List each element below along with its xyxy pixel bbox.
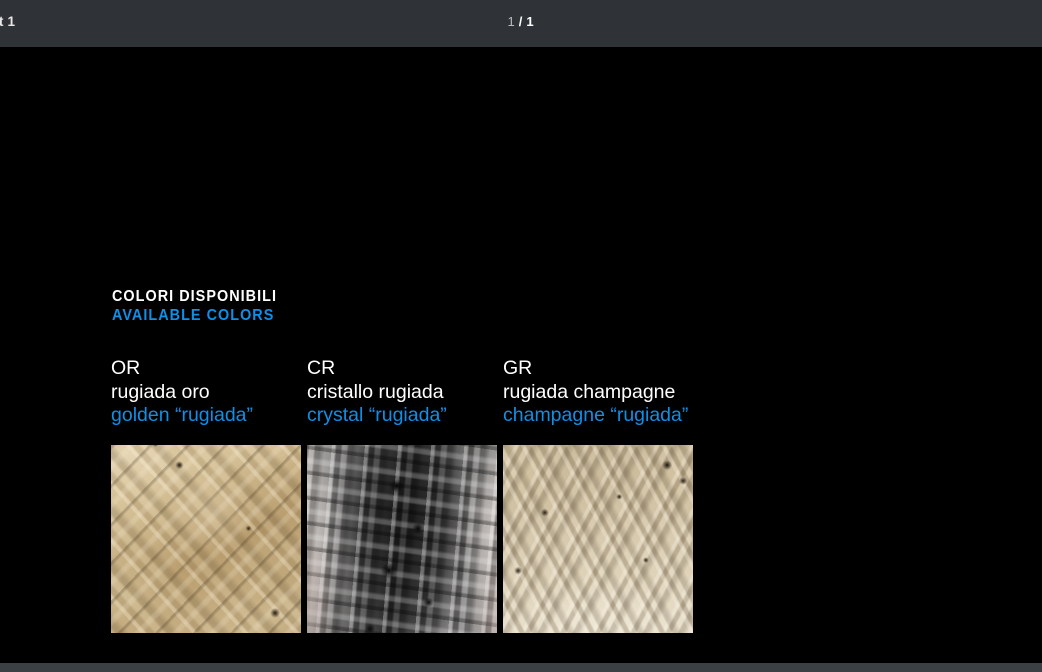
color-name-italian: rugiada champagne <box>503 381 694 405</box>
color-option-gr: GR rugiada champagne champagne “rugiada” <box>503 357 694 428</box>
page-indicator: 1/1 <box>0 14 1042 29</box>
color-name-english: champagne “rugiada” <box>503 404 694 428</box>
swatch-speckle-layer <box>111 445 301 633</box>
viewer-bottom-bar <box>0 663 1042 672</box>
color-name-italian: cristallo rugiada <box>307 381 498 405</box>
swatch-speckle-layer <box>503 445 693 633</box>
heading-english: AVAILABLE COLORS <box>112 306 277 325</box>
color-name-italian: rugiada oro <box>111 381 302 405</box>
pdf-page-canvas[interactable]: COLORI DISPONIBILI AVAILABLE COLORS OR r… <box>0 47 1042 663</box>
page-count-total: 1 <box>526 14 534 29</box>
color-name-english: crystal “rugiada” <box>307 404 498 428</box>
color-option-cr: CR cristallo rugiada crystal “rugiada” <box>307 357 498 428</box>
color-code: OR <box>111 357 302 381</box>
page-separator: / <box>519 14 524 29</box>
color-option-or: OR rugiada oro golden “rugiada” <box>111 357 302 428</box>
swatch-speckle-layer <box>307 445 497 633</box>
color-code: CR <box>307 357 498 381</box>
section-heading: COLORI DISPONIBILI AVAILABLE COLORS <box>112 287 289 325</box>
page-number-input[interactable]: 1 <box>507 14 515 29</box>
color-name-english: golden “rugiada” <box>111 404 302 428</box>
color-options-row: OR rugiada oro golden “rugiada” CR crist… <box>0 357 1042 657</box>
heading-italian: COLORI DISPONIBILI <box>112 287 277 306</box>
golden-rugiada-stone-swatch <box>111 445 301 633</box>
crystal-rugiada-stone-swatch <box>307 445 497 633</box>
pdf-viewer-toolbar: out 1 1/1 <box>0 0 1042 47</box>
champagne-rugiada-stone-swatch <box>503 445 693 633</box>
color-code: GR <box>503 357 694 381</box>
